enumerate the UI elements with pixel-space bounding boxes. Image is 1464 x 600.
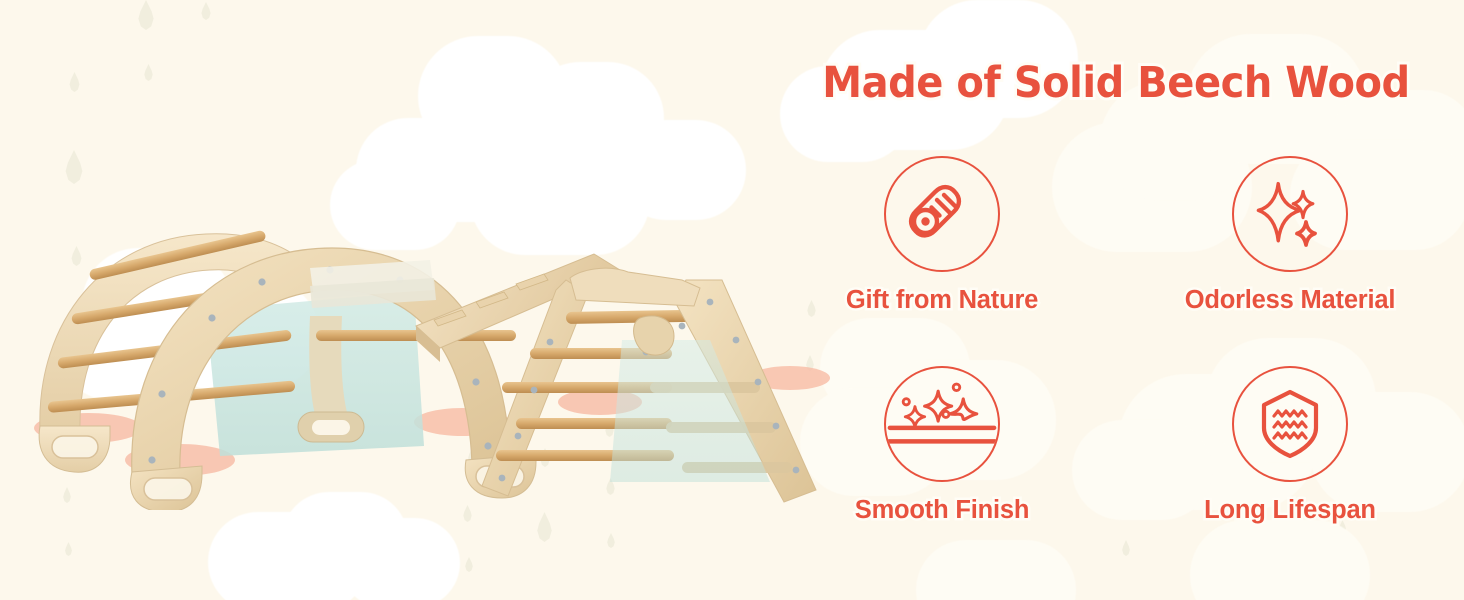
wood-log-icon [906, 178, 978, 250]
feature-grid: Gift from Nature Odorless Material [768, 150, 1464, 570]
cloud-shape [340, 518, 460, 600]
sparkles-icon [1254, 178, 1326, 250]
content-column: Made of Solid Beech Wood [768, 0, 1464, 600]
feature-gift-from-nature[interactable]: Gift from Nature [768, 150, 1116, 360]
icon-circle [884, 156, 1000, 272]
raindrop-icon [535, 512, 554, 542]
icon-circle [1232, 366, 1348, 482]
feature-label: Odorless Material [1185, 286, 1396, 315]
feature-label: Smooth Finish [855, 496, 1029, 525]
polished-surface-icon [886, 366, 998, 482]
feature-smooth-finish[interactable]: Smooth Finish [768, 360, 1116, 570]
icon-circle [1232, 156, 1348, 272]
raindrop-icon [136, 0, 156, 30]
feature-label: Gift from Nature [846, 286, 1038, 315]
feature-long-lifespan[interactable]: Long Lifespan [1116, 360, 1464, 570]
icon-circle [884, 366, 1000, 482]
raindrop-icon [464, 557, 474, 572]
wooden-climbing-set [10, 130, 830, 510]
product-feature-banner: Made of Solid Beech Wood [0, 0, 1464, 600]
raindrop-icon [143, 64, 154, 81]
shield-waves-icon [1254, 388, 1326, 460]
raindrop-icon [200, 2, 212, 20]
raindrop-icon [64, 542, 73, 556]
raindrop-icon [606, 533, 616, 548]
feature-label: Long Lifespan [1204, 496, 1376, 525]
page-title: Made of Solid Beech Wood [792, 58, 1439, 108]
raindrop-icon [68, 72, 81, 92]
product-illustration [10, 130, 830, 510]
feature-odorless-material[interactable]: Odorless Material [1116, 150, 1464, 360]
